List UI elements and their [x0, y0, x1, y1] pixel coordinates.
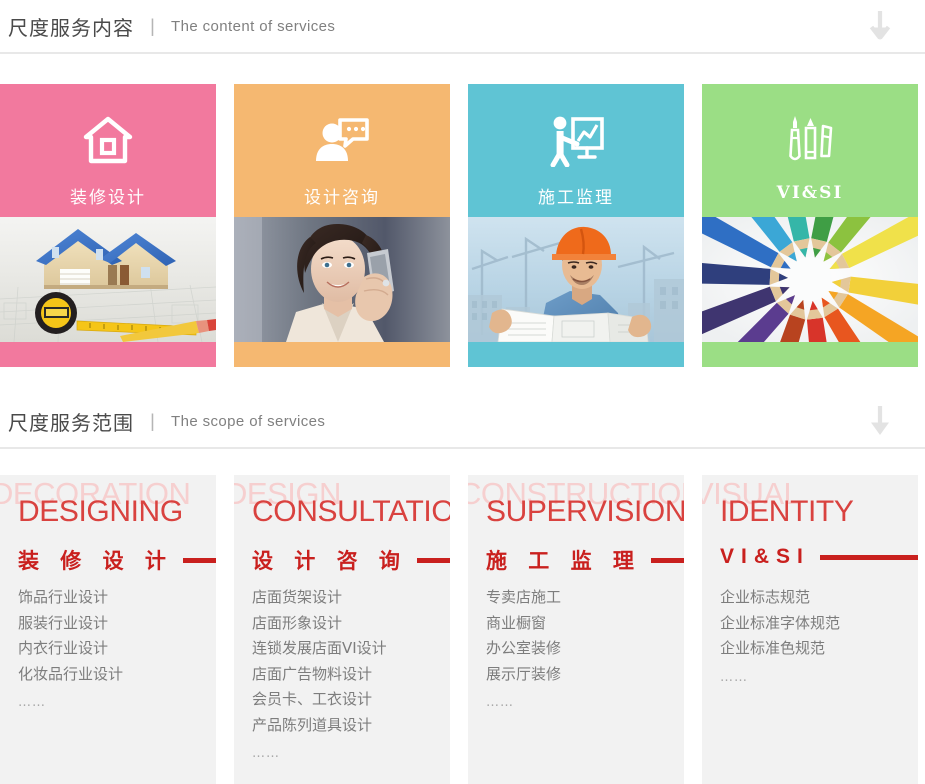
services-title-separator: 丨 [143, 13, 162, 40]
scope-title-en: IDENTITY [720, 495, 853, 529]
list-item: 服装行业设计 [18, 611, 206, 637]
scope-title-cn-row: 装 修 设 计 [18, 545, 216, 575]
service-card-label: VI&SI [777, 183, 844, 203]
scope-title-cn-row: 设 计 咨 询 [252, 545, 450, 575]
person-speech-bubble-icon [313, 113, 371, 169]
scope-title-cn: 施 工 监 理 [486, 545, 641, 575]
service-photo-engineer-site [468, 217, 684, 342]
scope-card-consultation[interactable]: DESIGN CONSULTATION 设 计 咨 询 店面货架设计 店面形象设… [234, 475, 450, 784]
service-card-label: 施工监理 [538, 183, 614, 208]
list-item: 办公室装修 [486, 636, 674, 662]
service-photo-house-model [0, 217, 216, 342]
list-item: 连锁发展店面VI设计 [252, 636, 440, 662]
scope-cards-row: DECORATION DESIGNING 装 修 设 计 饰品行业设计 服装行业… [0, 475, 925, 784]
scope-title-en: SUPERVISION [486, 495, 684, 529]
list-item: 饰品行业设计 [18, 585, 206, 611]
pen-pencil-eraser-icon [785, 113, 835, 169]
list-item: 商业橱窗 [486, 611, 674, 637]
services-section-header: 尺度服务内容 丨 The content of services [0, 0, 925, 54]
list-item: 会员卡、工衣设计 [252, 687, 440, 713]
service-photo-colored-pencils [702, 217, 918, 342]
scope-title-cn: 设 计 咨 询 [252, 545, 407, 575]
arrow-down-icon [867, 9, 893, 43]
list-item: 店面广告物料设计 [252, 662, 440, 688]
services-title-cn: 尺度服务内容 [8, 12, 134, 41]
list-item: 企业标志规范 [720, 585, 908, 611]
scope-title-cn: 尺度服务范围 [8, 407, 134, 436]
scope-item-list: 企业标志规范 企业标准字体规范 企业标准色规范 …… [720, 585, 908, 690]
scope-title-separator: 丨 [143, 408, 162, 435]
scope-accent-rule [417, 558, 450, 563]
list-item-ellipsis: …… [720, 662, 908, 691]
scope-accent-rule [651, 558, 684, 563]
list-item: 内衣行业设计 [18, 636, 206, 662]
arrow-down-icon [867, 404, 893, 438]
list-item: 企业标准字体规范 [720, 611, 908, 637]
list-item: 展示厅装修 [486, 662, 674, 688]
scope-accent-rule [820, 555, 918, 560]
scope-title-en: CONSULTATION [252, 495, 450, 529]
scope-title-cn: 装 修 设 计 [18, 545, 173, 575]
list-item: 专卖店施工 [486, 585, 674, 611]
list-item: 企业标准色规范 [720, 636, 908, 662]
scope-section-header: 尺度服务范围 丨 The scope of services [0, 395, 925, 449]
scope-card-designing[interactable]: DECORATION DESIGNING 装 修 设 计 饰品行业设计 服装行业… [0, 475, 216, 784]
list-item: 店面货架设计 [252, 585, 440, 611]
list-item-ellipsis: …… [18, 687, 206, 716]
scope-title-cn-row: 施 工 监 理 [486, 545, 684, 575]
list-item: 化妆品行业设计 [18, 662, 206, 688]
service-card-label: 设计咨询 [304, 183, 380, 208]
service-card-visual-identity[interactable]: VI&SI [702, 84, 918, 367]
house-icon [82, 113, 134, 169]
list-item: 店面形象设计 [252, 611, 440, 637]
service-card-decoration[interactable]: 装修设计 [0, 84, 216, 367]
service-card-consultation[interactable]: 设计咨询 [234, 84, 450, 367]
scope-item-list: 专卖店施工 商业橱窗 办公室装修 展示厅装修 …… [486, 585, 674, 716]
list-item-ellipsis: …… [252, 738, 440, 767]
scope-title-en: The scope of services [171, 413, 325, 430]
page-root: 尺度服务内容 丨 The content of services 装修设计 [0, 0, 925, 784]
scope-item-list: 饰品行业设计 服装行业设计 内衣行业设计 化妆品行业设计 …… [18, 585, 206, 716]
list-item: 产品陈列道具设计 [252, 713, 440, 739]
service-card-supervision[interactable]: 施工监理 [468, 84, 684, 367]
list-item-ellipsis: …… [486, 687, 674, 716]
service-card-label: 装修设计 [70, 183, 146, 208]
scope-accent-rule [183, 558, 216, 563]
scope-item-list: 店面货架设计 店面形象设计 连锁发展店面VI设计 店面广告物料设计 会员卡、工衣… [252, 585, 440, 767]
scope-card-visual-identity[interactable]: VISUAL IDENTITY VI&SI 企业标志规范 企业标准字体规范 企业… [702, 475, 918, 784]
services-title-en: The content of services [171, 18, 335, 35]
person-presenting-chart-icon [547, 113, 605, 169]
scope-title-cn: VI&SI [720, 545, 810, 569]
scope-title-en: DESIGNING [18, 495, 183, 529]
scope-card-supervision[interactable]: CONSTRUCTION SUPERVISION 施 工 监 理 专卖店施工 商… [468, 475, 684, 784]
scope-title-cn-row: VI&SI [720, 545, 918, 569]
service-photo-woman-on-phone [234, 217, 450, 342]
service-cards-row: 装修设计 [0, 84, 925, 367]
